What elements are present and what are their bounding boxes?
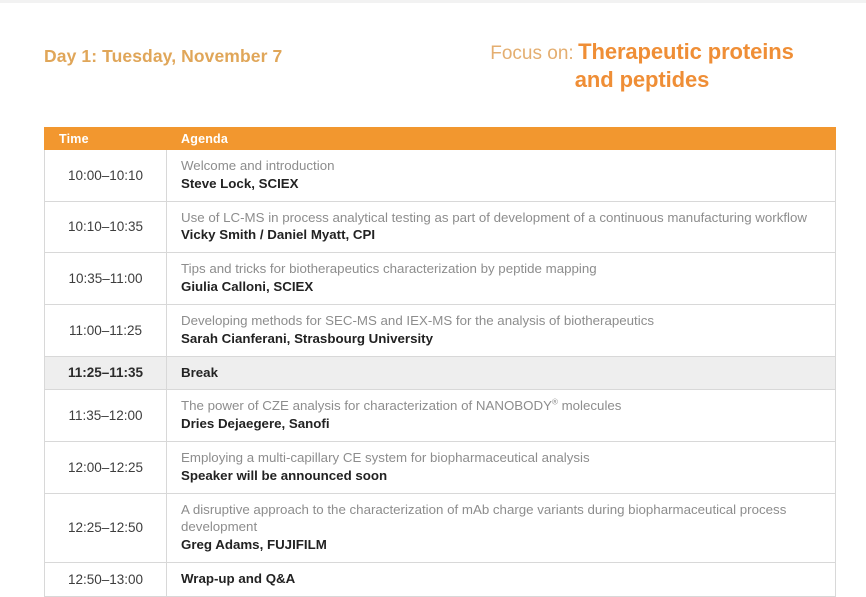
day-title: Day 1: Tuesday, November 7 [44, 46, 282, 67]
focus-value-line-1: Therapeutic proteins [578, 39, 794, 64]
talk-speaker: Break [181, 364, 821, 382]
table-row: 10:35–11:00Tips and tricks for biotherap… [45, 253, 836, 305]
cell-agenda: Developing methods for SEC-MS and IEX-MS… [167, 304, 836, 356]
talk-speaker: Vicky Smith / Daniel Myatt, CPI [181, 226, 821, 244]
agenda-table-header-row: Time Agenda [45, 128, 836, 150]
agenda-table: Time Agenda 10:00–10:10Welcome and intro… [44, 127, 836, 597]
cell-time: 11:00–11:25 [45, 304, 167, 356]
cell-agenda: Welcome and introductionSteve Lock, SCIE… [167, 150, 836, 202]
talk-speaker: Sarah Cianferani, Strasbourg University [181, 330, 821, 348]
table-row: 11:25–11:35Break [45, 356, 836, 390]
cell-time: 11:25–11:35 [45, 356, 167, 390]
focus-line-1: Focus on: Therapeutic proteins [448, 38, 836, 66]
cell-agenda: Employing a multi-capillary CE system fo… [167, 441, 836, 493]
cell-agenda: Tips and tricks for biotherapeutics char… [167, 253, 836, 305]
cell-time: 10:35–11:00 [45, 253, 167, 305]
cell-time: 10:00–10:10 [45, 150, 167, 202]
cell-agenda: The power of CZE analysis for characteri… [167, 390, 836, 442]
talk-speaker: Wrap-up and Q&A [181, 570, 821, 588]
cell-agenda: Break [167, 356, 836, 390]
table-row: 10:10–10:35Use of LC-MS in process analy… [45, 201, 836, 253]
talk-title: Developing methods for SEC-MS and IEX-MS… [181, 312, 821, 330]
cell-agenda: Use of LC-MS in process analytical testi… [167, 201, 836, 253]
cell-time: 12:25–12:50 [45, 493, 167, 562]
talk-speaker: Speaker will be announced soon [181, 467, 821, 485]
focus-value-line-2: and peptides [448, 66, 836, 94]
talk-title: A disruptive approach to the characteriz… [181, 501, 821, 537]
table-row: 10:00–10:10Welcome and introductionSteve… [45, 150, 836, 202]
page-header: Day 1: Tuesday, November 7 Focus on: The… [44, 38, 836, 110]
cell-agenda: Wrap-up and Q&A [167, 563, 836, 597]
talk-title: The power of CZE analysis for characteri… [181, 397, 821, 415]
talk-speaker: Giulia Calloni, SCIEX [181, 278, 821, 296]
focus-block: Focus on: Therapeutic proteins and pepti… [448, 38, 836, 94]
talk-speaker: Greg Adams, FUJIFILM [181, 536, 821, 554]
agenda-table-head: Time Agenda [45, 128, 836, 150]
table-row: 11:00–11:25Developing methods for SEC-MS… [45, 304, 836, 356]
cell-time: 11:35–12:00 [45, 390, 167, 442]
talk-speaker: Dries Dejaegere, Sanofi [181, 415, 821, 433]
table-row: 12:50–13:00Wrap-up and Q&A [45, 563, 836, 597]
column-header-time: Time [45, 128, 167, 150]
table-row: 12:25–12:50A disruptive approach to the … [45, 493, 836, 562]
talk-title: Welcome and introduction [181, 157, 821, 175]
talk-speaker: Steve Lock, SCIEX [181, 175, 821, 193]
cell-time: 10:10–10:35 [45, 201, 167, 253]
cell-time: 12:00–12:25 [45, 441, 167, 493]
column-header-agenda: Agenda [167, 128, 836, 150]
table-row: 11:35–12:00The power of CZE analysis for… [45, 390, 836, 442]
cell-agenda: A disruptive approach to the characteriz… [167, 493, 836, 562]
focus-label: Focus on: [490, 43, 573, 64]
talk-title: Tips and tricks for biotherapeutics char… [181, 260, 821, 278]
agenda-table-body: 10:00–10:10Welcome and introductionSteve… [45, 150, 836, 597]
registered-trademark-icon: ® [552, 398, 558, 407]
agenda-page: Day 1: Tuesday, November 7 Focus on: The… [0, 0, 866, 578]
table-row: 12:00–12:25Employing a multi-capillary C… [45, 441, 836, 493]
talk-title: Use of LC-MS in process analytical testi… [181, 209, 821, 227]
talk-title: Employing a multi-capillary CE system fo… [181, 449, 821, 467]
cell-time: 12:50–13:00 [45, 563, 167, 597]
